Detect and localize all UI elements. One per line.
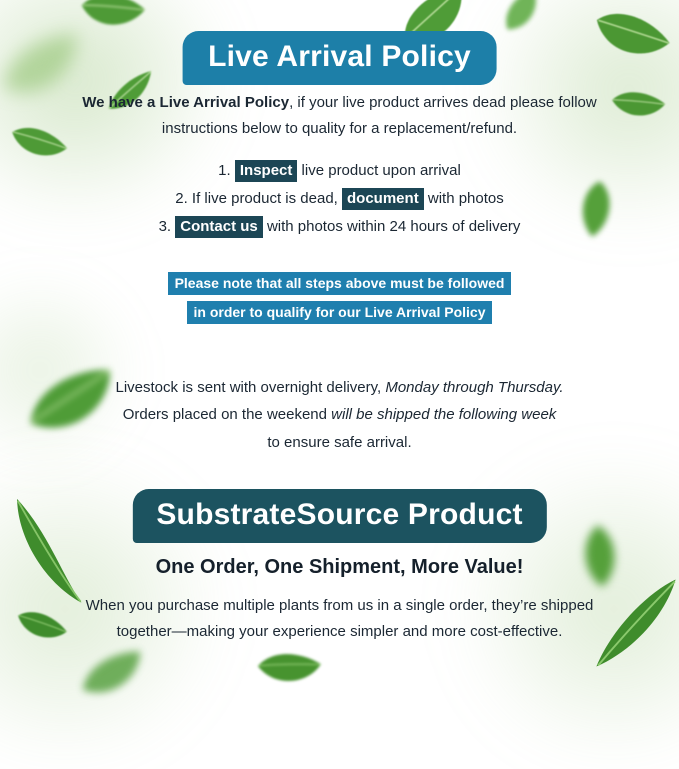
step-highlight-inspect: Inspect — [235, 160, 298, 182]
policy-intro-rest: , if your live product arrives dead plea… — [289, 94, 597, 111]
product-body-line2: together—making your experience simpler … — [117, 623, 563, 640]
policy-note-callout: Please note that all steps above must be… — [60, 272, 620, 330]
substratesource-product-banner: SubstrateSource Product — [132, 489, 546, 543]
step-highlight-contact-us: Contact us — [175, 216, 263, 238]
note-row-2: in order to qualify for our Live Arrival… — [60, 301, 620, 324]
step-text: with photos within 24 hours of delivery — [267, 218, 520, 235]
product-body-line1: When you purchase multiple plants from u… — [86, 597, 594, 614]
step-number: 1. — [218, 162, 231, 179]
substratesource-product-title: SubstrateSource Product — [156, 498, 522, 531]
infographic-content: Live Arrival Policy We have a Live Arriv… — [0, 0, 679, 679]
product-subheading: One Order, One Shipment, More Value! — [40, 556, 640, 579]
step-number: 3. — [159, 218, 172, 235]
policy-intro-bold: We have a Live Arrival Policy — [82, 94, 289, 111]
shipping-line2-plain: Orders placed on the weekend — [123, 406, 327, 423]
shipping-line3: to ensure safe arrival. — [267, 434, 411, 451]
shipping-line1-plain: Livestock is sent with overnight deliver… — [116, 379, 382, 396]
note-line-1: Please note that all steps above must be… — [168, 272, 512, 295]
step-text: live product upon arrival — [302, 162, 461, 179]
list-item: 2. If live product is dead, document wit… — [60, 191, 620, 206]
step-text-before: If live product is dead, — [192, 190, 338, 207]
note-line-2: in order to qualify for our Live Arrival… — [187, 301, 493, 324]
product-paragraph: When you purchase multiple plants from u… — [70, 593, 610, 646]
step-text: with photos — [428, 190, 504, 207]
shipping-paragraph: Livestock is sent with overnight deliver… — [80, 374, 600, 456]
step-highlight-document: document — [342, 188, 424, 210]
policy-intro-paragraph: We have a Live Arrival Policy, if your l… — [70, 90, 610, 143]
policy-intro-line2: instructions below to quality for a repl… — [162, 120, 517, 137]
shipping-line1-italic: Monday through Thursday. — [385, 379, 563, 396]
note-row-1: Please note that all steps above must be… — [60, 272, 620, 295]
shipping-line2-italic: will be shipped the following week — [331, 406, 556, 423]
step-number: 2. — [175, 190, 188, 207]
live-arrival-policy-title: Live Arrival Policy — [208, 40, 471, 73]
list-item: 3. Contact us with photos within 24 hour… — [60, 219, 620, 234]
policy-steps-list: 1. Inspect live product upon arrival 2. … — [60, 163, 620, 247]
list-item: 1. Inspect live product upon arrival — [60, 163, 620, 178]
live-arrival-policy-banner: Live Arrival Policy — [182, 31, 497, 85]
